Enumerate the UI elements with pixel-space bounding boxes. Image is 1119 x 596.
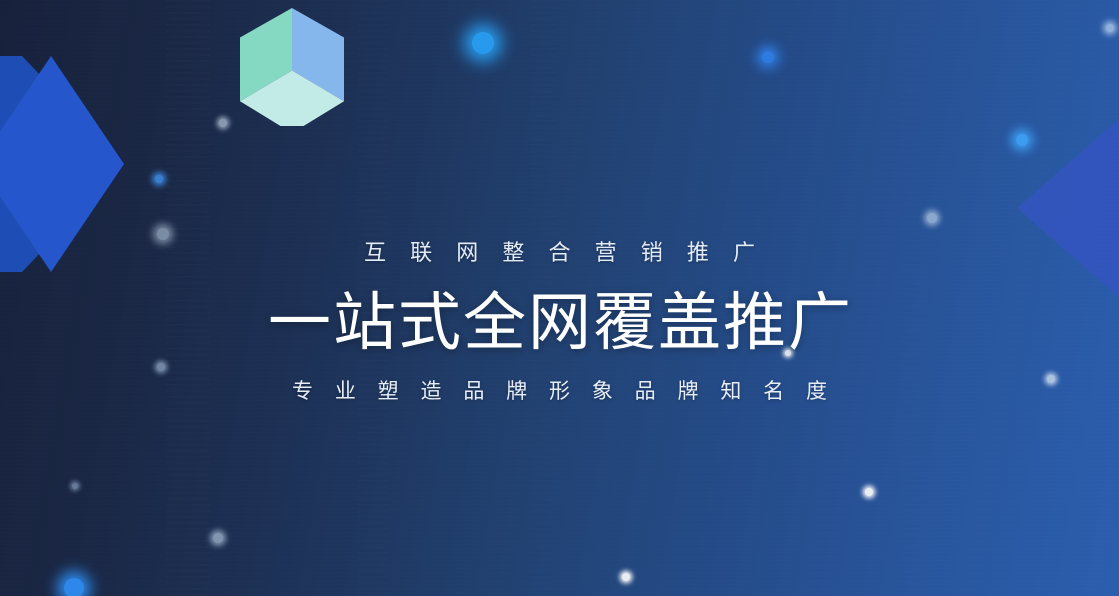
banner-tagline: 专 业 塑 造 品 牌 形 象 品 牌 知 名 度 [284,381,835,402]
banner-text-block: 互 联 网 整 合 营 销 推 广 一站式全网覆盖推广 专 业 塑 造 品 牌 … [0,0,1119,596]
banner-headline: 一站式全网覆盖推广 [266,290,853,356]
banner-eyebrow: 互 联 网 整 合 营 销 推 广 [355,242,764,264]
promo-banner: 互 联 网 整 合 营 销 推 广 一站式全网覆盖推广 专 业 塑 造 品 牌 … [0,0,1119,596]
